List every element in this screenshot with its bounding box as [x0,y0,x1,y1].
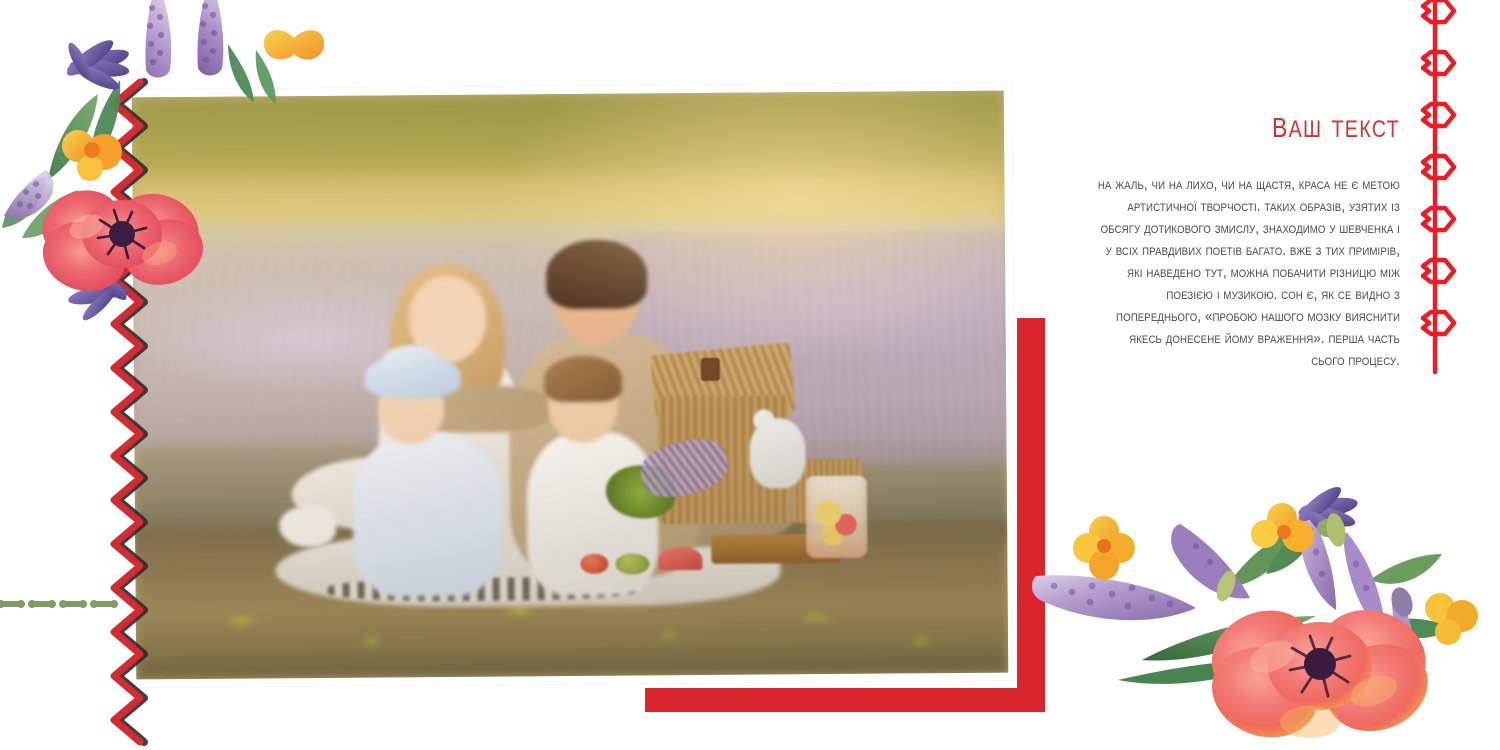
text-column: Ваш текст На жаль, чи на лихо, чи на щас… [1055,104,1400,372]
watercolor-flowers-top-left [2,0,342,374]
red-accent-bar-horizontal [645,688,1045,712]
photobook-page: Ваш текст На жаль, чи на лихо, чи на щас… [0,0,1500,750]
red-heart-chain-border [1408,0,1464,372]
body-paragraph: На жаль, чи на лихо, чи на щастя, краса … [1096,174,1400,372]
green-dashed-line [0,596,135,612]
page-title: Ваш текст [1117,104,1400,144]
watercolor-flowers-bottom-right [1030,468,1490,750]
